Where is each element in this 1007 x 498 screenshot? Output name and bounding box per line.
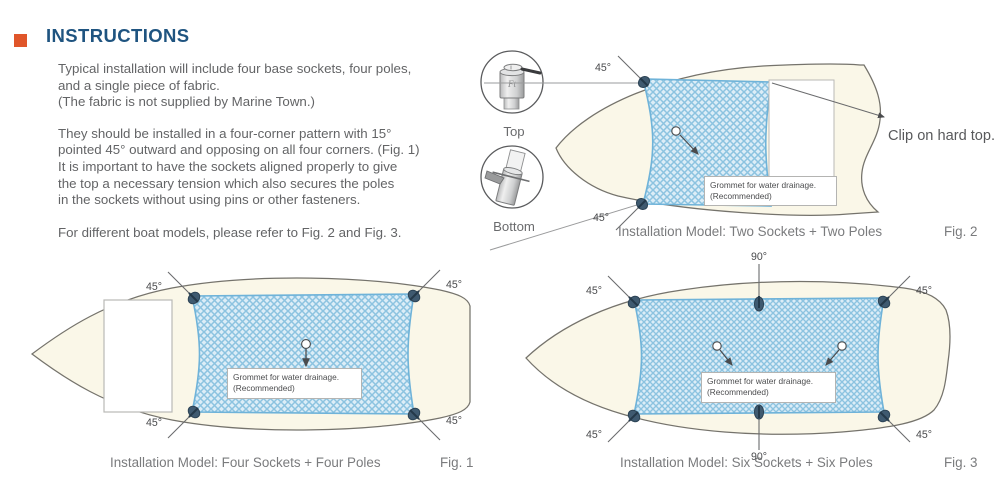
figure-2-number: Fig. 2 [944,224,978,239]
instr-p2-line4: the top a necessary tension which also s… [58,176,394,191]
pole-bottom-illustration [478,143,550,217]
figure-3-number: Fig. 3 [944,455,978,470]
figure-1-caption: Installation Model: Four Sockets + Four … [110,455,381,470]
socket-top-left [618,56,652,90]
clip-on-hardtop-label: Clip on hard top. [888,128,995,144]
figure-3: 45° 45° 45° 45° 90° 90° Grommet for wate… [512,262,982,452]
instructions-block: INSTRUCTIONS Typical installation will i… [14,26,484,241]
angle-label-bottom-left: 45° [586,429,602,441]
instr-p3-line1: For different boat models, please refer … [58,225,401,240]
angle-label-top-center: 90° [751,251,767,263]
instr-p2-line2: pointed 45° outward and opposing on all … [58,142,420,157]
fig1-diagram: 45° 45° 45° 45° [22,262,492,447]
grommet-note-fig2: Grommet for water drainage. (Recommended… [704,176,837,206]
angle-label-bottom-right: 45° [446,415,462,427]
grommet-note-line1: Grommet for water drainage. [707,376,831,387]
figure-2: 45° 45° Grommet for water drainage. (Rec… [548,36,1007,232]
figure-1: 45° 45° 45° 45° Grommet for water draina… [22,262,492,447]
bullet-square-icon [14,34,27,47]
fig3-diagram: 45° 45° 45° 45° 90° 90° [512,262,982,452]
instr-p1-line3: (The fabric is not supplied by Marine To… [58,94,315,109]
angle-label-top-left: 45° [586,285,602,297]
figure-3-caption: Installation Model: Six Sockets + Six Po… [620,455,873,470]
instr-p2-line1: They should be installed in a four-corne… [58,126,392,141]
grommet-note-line1: Grommet for water drainage. [233,372,357,383]
grommet-note-line1: Grommet for water drainage. [710,180,832,191]
angle-label-top-left: 45° [146,281,162,293]
cabin-region [104,300,172,412]
svg-text:Ft: Ft [507,79,516,89]
pole-top-illustration: Ft [478,48,550,122]
detail-callout-top: Ft Top [478,48,550,139]
angle-label-top-left: 45° [595,62,611,74]
grommet-note-line2: (Recommended) [710,191,832,202]
instr-p1-line1: Typical installation will include four b… [58,61,411,76]
figure-2-caption: Installation Model: Two Sockets + Two Po… [618,224,882,239]
angle-label-top-right: 45° [916,285,932,297]
angle-label-bottom-left: 45° [593,212,609,224]
detail-callout-bottom: Bottom [478,143,550,234]
angle-label-top-right: 45° [446,279,462,291]
angle-label-bottom-right: 45° [916,429,932,441]
instructions-paragraph-2: They should be installed in a four-corne… [58,126,484,209]
grommet-note-line2: (Recommended) [707,387,831,398]
detail-label-bottom: Bottom [478,219,550,234]
instr-p2-line3: It is important to have the sockets alig… [58,159,397,174]
grommet-note-fig1: Grommet for water drainage. (Recommended… [227,368,362,399]
grommet-note-line2: (Recommended) [233,383,357,394]
grommet-note-fig3: Grommet for water drainage. (Recommended… [701,372,836,403]
angle-label-bottom-left: 45° [146,417,162,429]
instructions-paragraph-3: For different boat models, please refer … [58,225,484,242]
detail-label-top: Top [478,124,550,139]
instr-p2-line5: in the sockets without using pins or oth… [58,192,360,207]
instructions-paragraph-1: Typical installation will include four b… [58,61,484,111]
figure-1-number: Fig. 1 [440,455,474,470]
page-title: INSTRUCTIONS [46,26,484,46]
instr-p1-line2: and a single piece of fabric. [58,78,220,93]
